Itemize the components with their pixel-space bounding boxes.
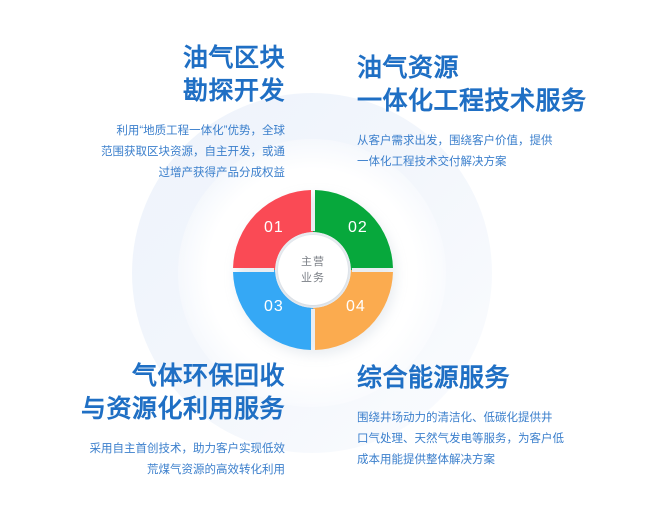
block-02-title: 油气资源 一体化工程技术服务 bbox=[357, 52, 647, 118]
segment-text-block-01: 油气区块 勘探开发 利用“地质工程一体化”优势，全球 范围获取区块资源，自主开发… bbox=[25, 42, 285, 184]
block-04-title: 综合能源服务 bbox=[357, 362, 647, 395]
donut-center-hub: 主营 业务 bbox=[274, 231, 352, 309]
block-03-title: 气体环保回收 与资源化利用服务 bbox=[18, 360, 285, 426]
hub-label: 主营 业务 bbox=[301, 254, 325, 286]
block-03-body: 采用自主首创技术，助力客户实现低效 荒煤气资源的高效转化利用 bbox=[18, 439, 285, 481]
block-01-body: 利用“地质工程一体化”优势，全球 范围获取区块资源，自主开发，或通 过增产获得产… bbox=[25, 121, 285, 184]
segment-text-block-03: 气体环保回收 与资源化利用服务 采用自主首创技术，助力客户实现低效 荒煤气资源的… bbox=[18, 360, 285, 481]
infographic-canvas: 油气区块 勘探开发 利用“地质工程一体化”优势，全球 范围获取区块资源，自主开发… bbox=[0, 0, 655, 510]
block-02-body: 从客户需求出发，围绕客户价值，提供 一体化工程技术交付解决方案 bbox=[357, 131, 647, 173]
block-01-title: 油气区块 勘探开发 bbox=[25, 42, 285, 108]
hub-face: 主营 业务 bbox=[278, 235, 348, 305]
block-04-body: 围绕井场动力的清洁化、低碳化提供井 口气处理、天然气发电等服务，为客户低 成本用… bbox=[357, 408, 647, 471]
segment-text-block-02: 油气资源 一体化工程技术服务 从客户需求出发，围绕客户价值，提供 一体化工程技术… bbox=[357, 52, 647, 173]
segment-text-block-04: 综合能源服务 围绕井场动力的清洁化、低碳化提供井 口气处理、天然气发电等服务，为… bbox=[357, 362, 647, 471]
